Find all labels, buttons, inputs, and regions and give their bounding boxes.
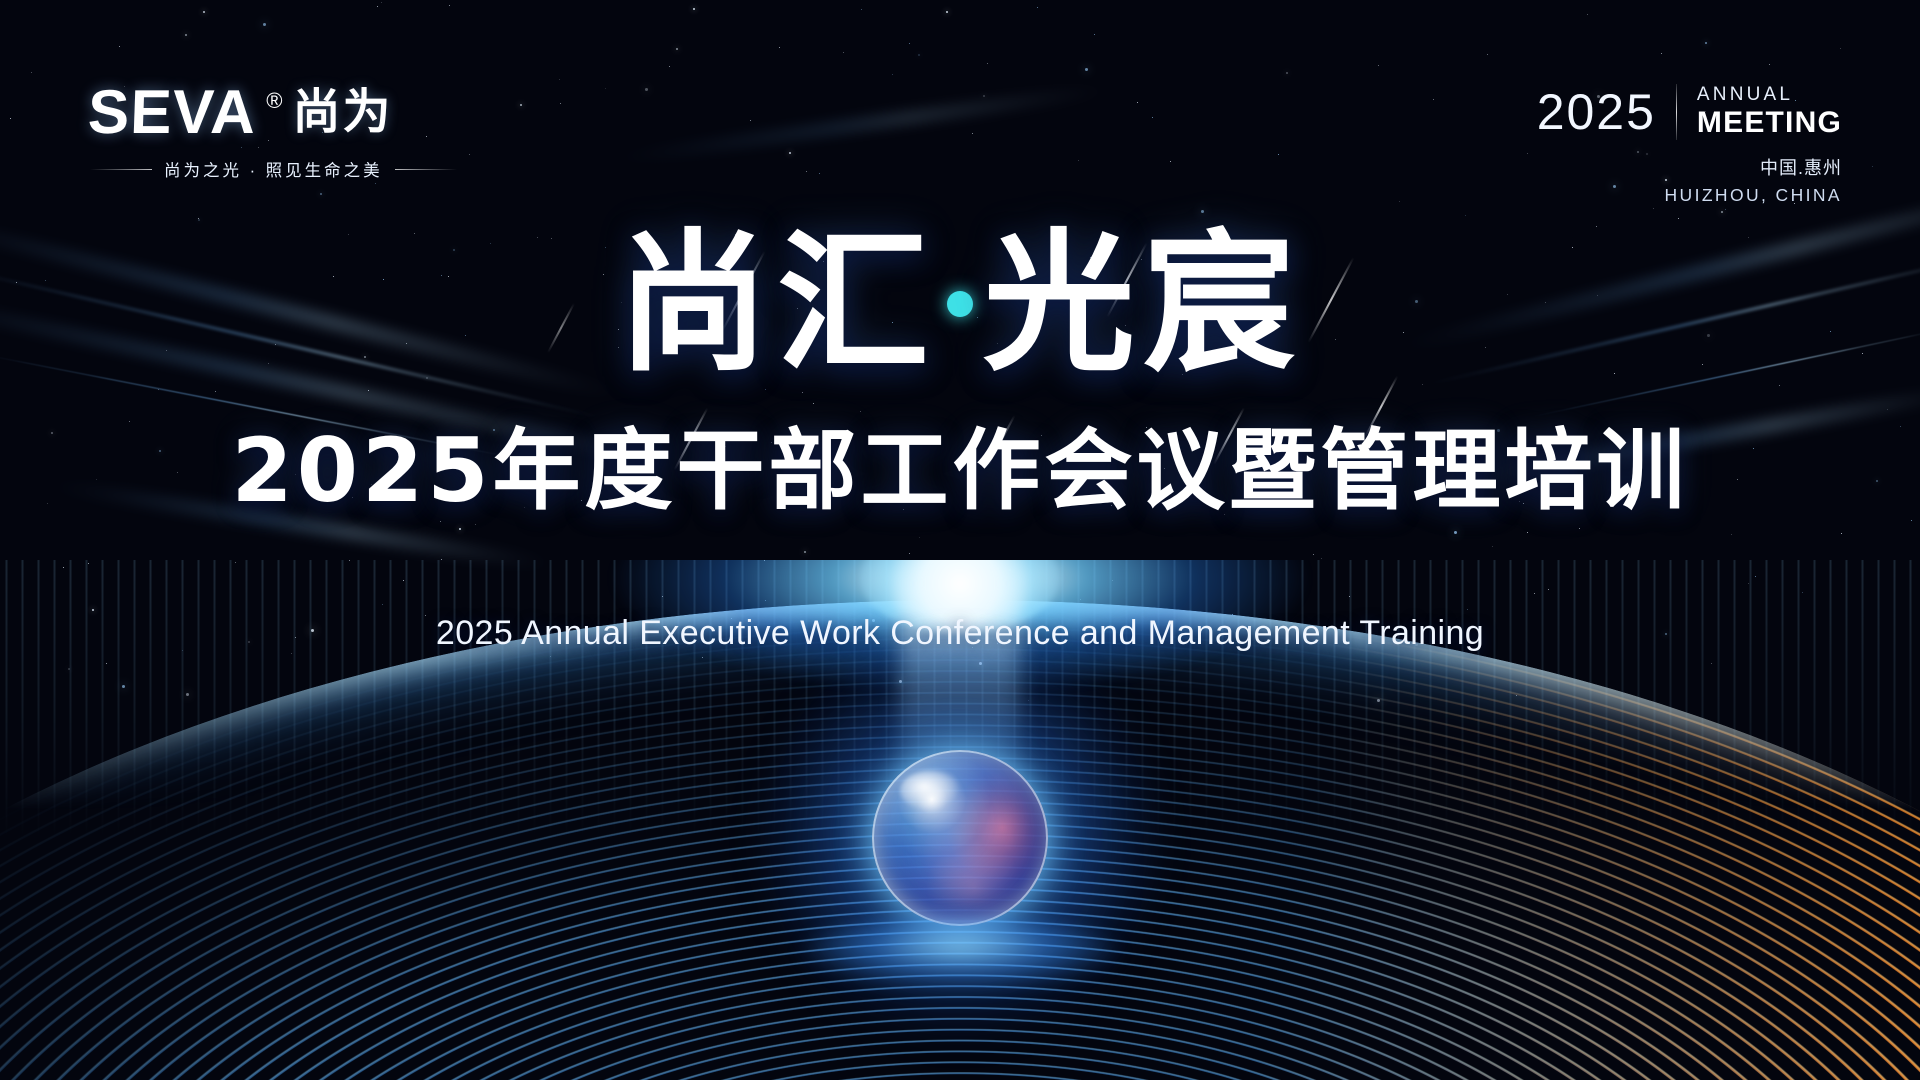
brand-name-cn: 尚为 — [292, 89, 392, 137]
meeting-year: 2025 — [1537, 87, 1656, 137]
logo-row: SEVA ® 尚为 — [88, 82, 457, 144]
vertical-divider — [1676, 84, 1677, 140]
location-cn: 中国.惠州 — [1537, 154, 1842, 180]
headline-wrap: 尚汇 光宸 — [0, 228, 1920, 380]
headline-right: 光宸 — [983, 228, 1303, 380]
tagline-text: 尚为之光 · 照见生命之美 — [164, 157, 383, 181]
headline-left: 尚汇 — [617, 228, 937, 380]
brand-tagline: 尚为之光 · 照见生命之美 — [88, 157, 457, 181]
tagline-rule-left — [90, 169, 152, 170]
registered-trademark-icon: ® — [266, 88, 282, 114]
brand-logo[interactable]: SEVA ® 尚为 尚为之光 · 照见生命之美 — [88, 82, 457, 181]
sphere-rim — [872, 750, 1048, 926]
meeting-labels: ANNUAL MEETING — [1697, 84, 1842, 140]
meeting-annual-label: ANNUAL — [1697, 84, 1842, 106]
subtitle-english: 2025 Annual Executive Work Conference an… — [0, 614, 1920, 653]
headline-dot-separator-icon — [947, 291, 973, 317]
subtitle-chinese: 2025年度干部工作会议暨管理培训 — [0, 400, 1920, 527]
location-en: HUIZHOU, CHINA — [1537, 185, 1842, 206]
sphere-body — [872, 750, 1048, 926]
conference-banner: SEVA ® 尚为 尚为之光 · 照见生命之美 2025 ANNUAL MEET… — [0, 0, 1920, 1080]
tagline-rule-right — [395, 169, 457, 170]
seva-wordmark: SEVA — [87, 82, 257, 144]
event-headline: 尚汇 光宸 — [617, 228, 1303, 380]
crystal-sphere — [872, 750, 1048, 926]
annual-meeting-block: 2025 ANNUAL MEETING 中国.惠州 HUIZHOU, CHINA — [1537, 84, 1842, 206]
sphere-base-glow — [800, 918, 1120, 988]
annual-meeting-row: 2025 ANNUAL MEETING — [1537, 84, 1842, 140]
meeting-meeting-label: MEETING — [1697, 106, 1842, 141]
